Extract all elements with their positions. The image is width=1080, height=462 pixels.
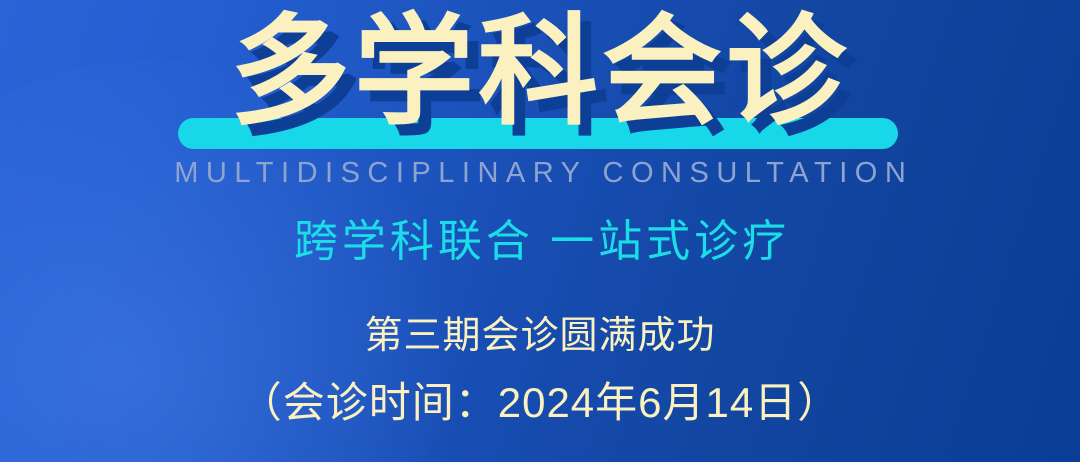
english-subtitle: MULTIDISCIPLINARY CONSULTATION <box>0 156 1080 190</box>
multidisciplinary-consultation-banner: 多学科会诊 多学科会诊 MULTIDISCIPLINARY CONSULTATI… <box>0 0 1080 462</box>
tagline: 跨学科联合 一站式诊疗 <box>0 214 1080 270</box>
info-line-session-date: （会诊时间：2024年6月14日） <box>0 378 1080 428</box>
info-line-session-result: 第三期会诊圆满成功 <box>0 313 1080 359</box>
main-title: 多学科会诊 <box>0 6 1080 138</box>
